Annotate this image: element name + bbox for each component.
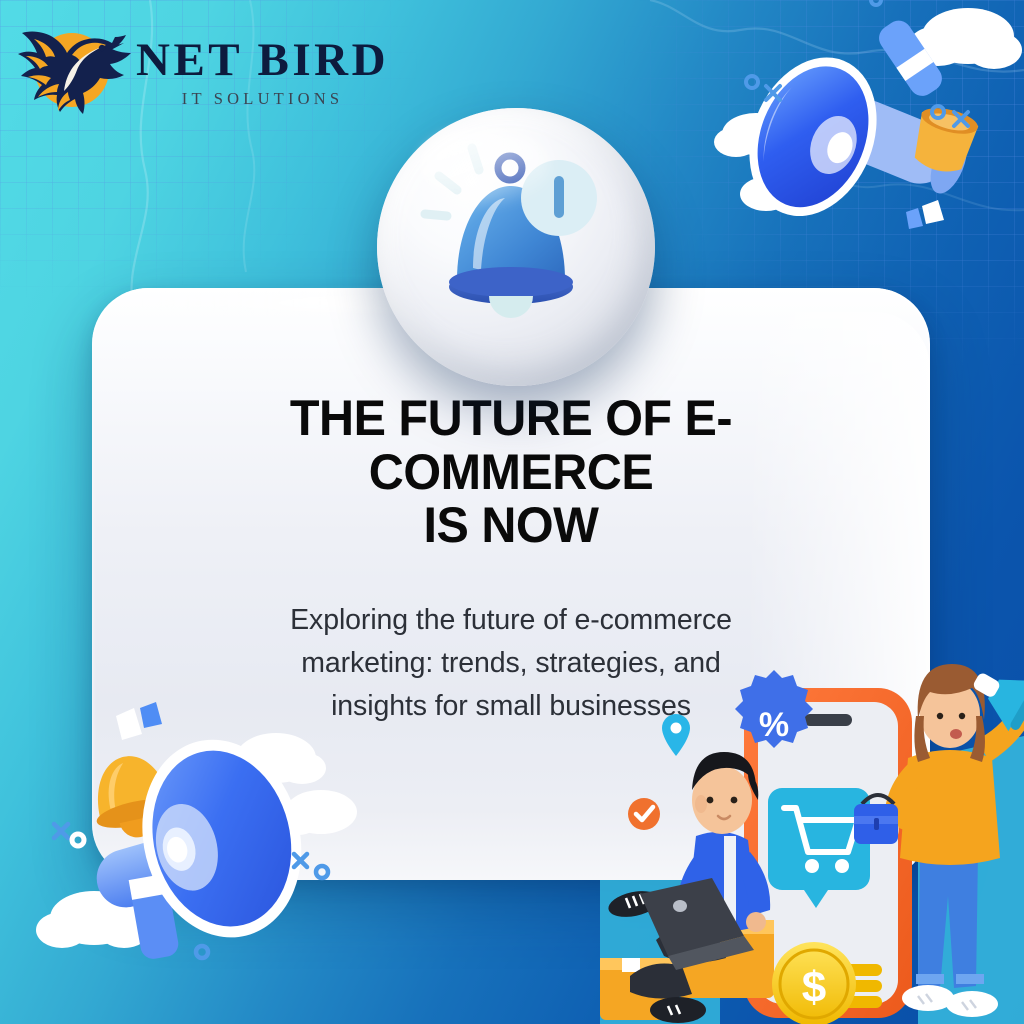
page-title: THE FUTURE OF E-COMMERCE IS NOW [165,392,858,553]
poster-canvas: NET BIRD IT SOLUTIONS THE FUTURE OF E-CO… [0,0,1024,1024]
check-circle-icon [628,798,660,830]
subtitle-line-1: Exploring the future of e-commerce [290,604,732,636]
svg-text:%: % [759,706,789,744]
notification-bell-icon [377,108,655,386]
svg-text:$: $ [802,963,826,1012]
megaphone-bottom-left [36,690,356,990]
location-pin-icon [662,714,690,756]
notification-bell-orb [377,108,655,386]
ecommerce-illustration: % [600,640,1024,1024]
hummingbird-icon [14,21,132,121]
brand-logo[interactable]: NET BIRD IT SOLUTIONS [14,18,359,123]
brand-tagline: IT SOLUTIONS [136,91,389,108]
brand-logo-text: NET BIRD IT SOLUTIONS [136,33,389,108]
headline-line-2: IS NOW [424,497,599,553]
headline-line-1: THE FUTURE OF E-COMMERCE [290,390,732,500]
shopping-cart-icon [768,788,870,908]
brand-name: NET BIRD [136,37,389,84]
megaphone-top-right [716,0,1016,262]
